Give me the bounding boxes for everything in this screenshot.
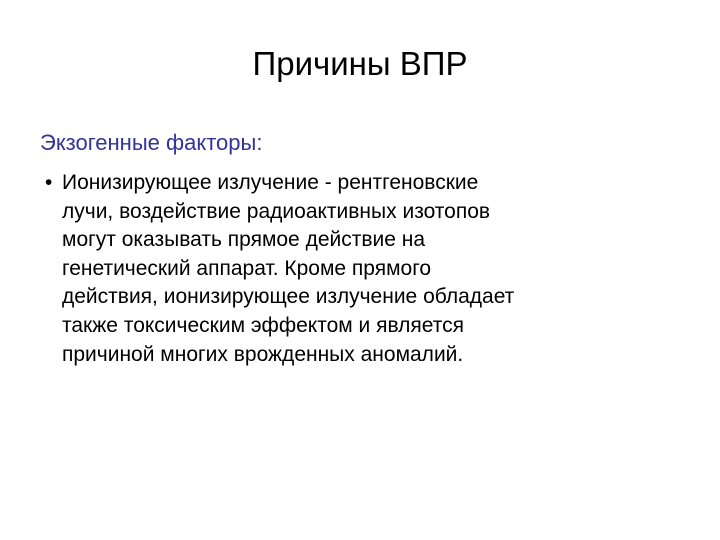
text-line: лучи, воздействие радиоактивных изотопов	[62, 198, 700, 227]
text-line: действия, ионизирующее излучение обладае…	[62, 283, 700, 312]
list-item: • Ионизирующее излучение - рентгеновские…	[40, 169, 700, 369]
text-line: также токсическим эффектом и является	[62, 312, 700, 341]
slide-body: Экзогенные факторы: • Ионизирующее излуч…	[40, 128, 700, 369]
bullet-dot-icon: •	[45, 169, 57, 198]
text-line: могут оказывать прямое действие на	[62, 226, 700, 255]
section-heading: Экзогенные факторы:	[40, 128, 700, 157]
text-line: генетический аппарат. Кроме прямого	[62, 255, 700, 284]
text-line: причиной многих врожденных аномалий.	[62, 341, 700, 370]
page-title: Причины ВПР	[0, 44, 720, 84]
text-line: Ионизирующее излучение - рентгеновские	[62, 169, 700, 198]
list-item-text: Ионизирующее излучение - рентгеновские л…	[62, 169, 700, 369]
bullet-list: • Ионизирующее излучение - рентгеновские…	[40, 169, 700, 369]
slide: Причины ВПР Экзогенные факторы: • Ионизи…	[0, 0, 720, 540]
